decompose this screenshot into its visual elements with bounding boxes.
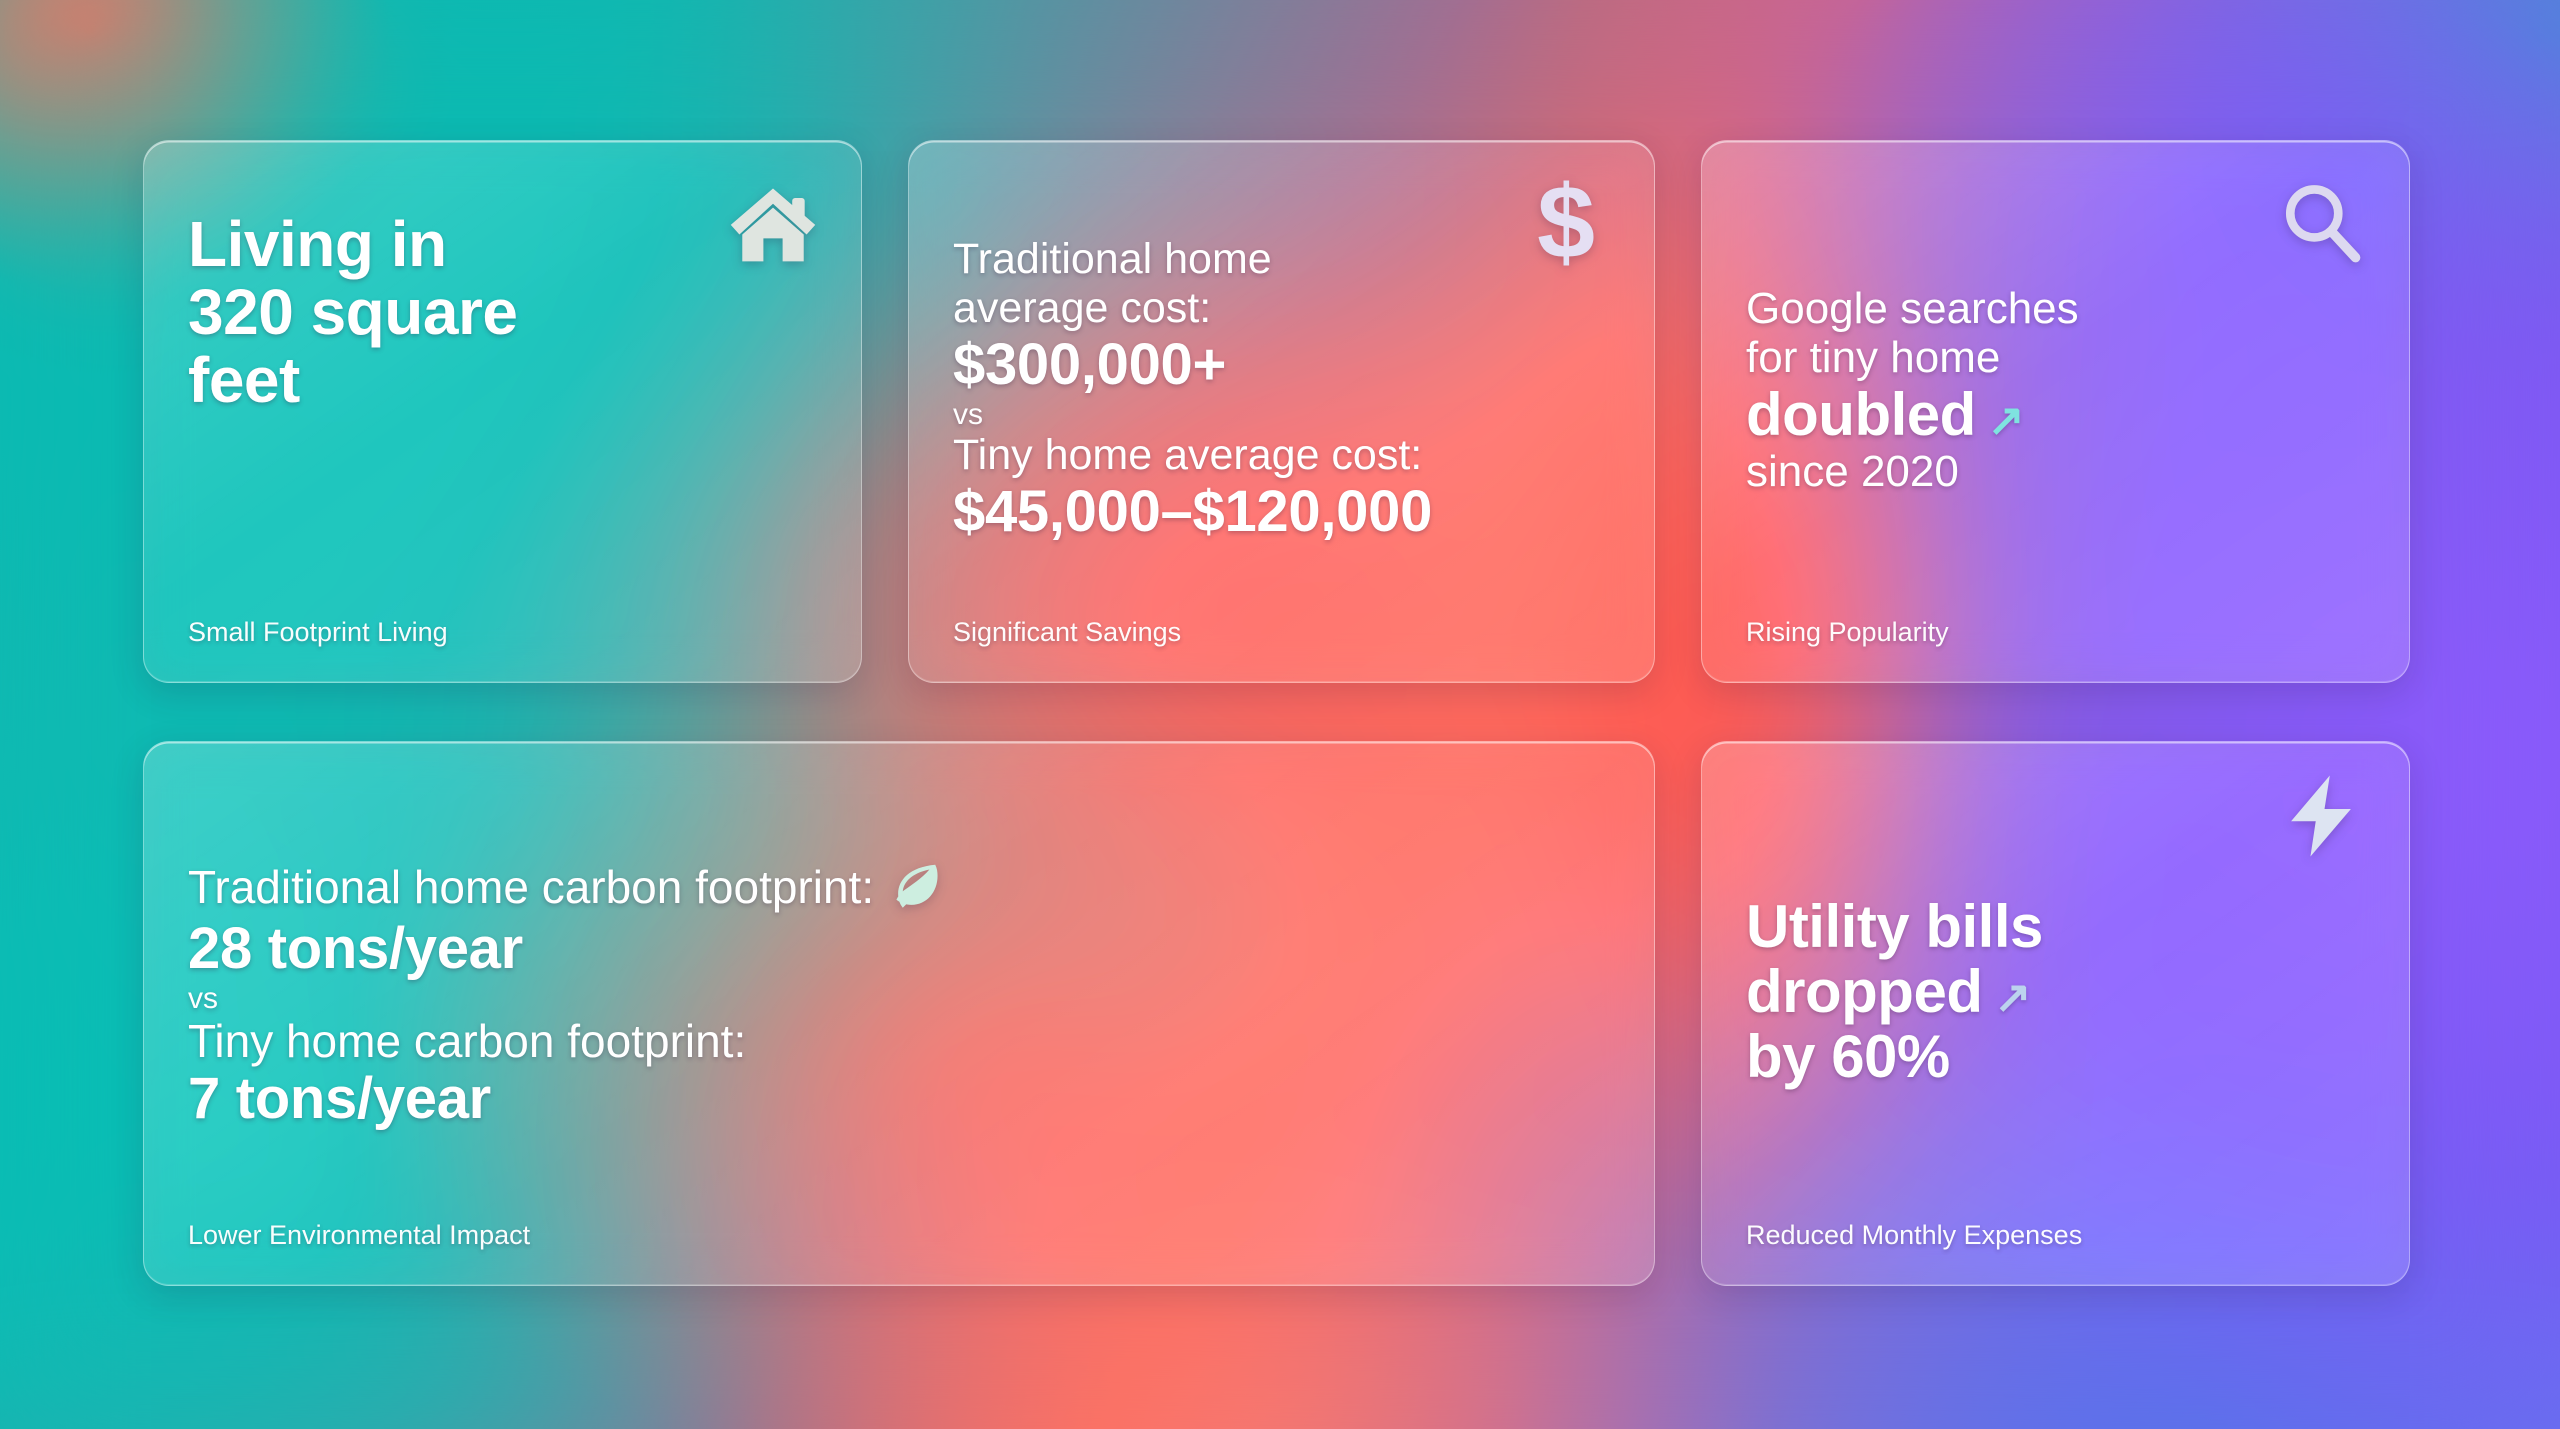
card-vs-label: vs (188, 982, 1610, 1015)
card-content: Traditional home average cost: $300,000+… (953, 187, 1610, 594)
card-stat-value: $300,000+ (953, 333, 1610, 398)
card-stat-value: $45,000–$120,000 (953, 480, 1610, 545)
card-line-with-icon: Traditional home carbon footprint: (188, 859, 1610, 917)
trend-up-arrow-icon: ↗ (1988, 399, 2025, 443)
card-caption: Significant Savings (953, 594, 1610, 648)
card-line: Traditional home carbon footprint: (188, 861, 874, 913)
card-caption: Small Footprint Living (188, 594, 817, 648)
card-stat-value: doubled (1746, 383, 1976, 448)
card-content: Google searches for tiny home doubled ↗ … (1746, 187, 2365, 594)
stat-card-significant-savings[interactable]: $ Traditional home average cost: $300,00… (908, 140, 1655, 683)
card-line: Traditional home (953, 235, 1610, 284)
card-content: Utility bills dropped ↗ by 60% (1746, 788, 2365, 1197)
card-line: Tiny home carbon footprint: (188, 1015, 1610, 1067)
card-content: Living in 320 square feet (188, 187, 817, 594)
card-stat-value: 7 tons/year (188, 1067, 1610, 1132)
card-line: Tiny home average cost: (953, 431, 1610, 480)
card-stat-value: 28 tons/year (188, 917, 1610, 982)
stat-card-reduced-monthly-expenses[interactable]: Utility bills dropped ↗ by 60% Reduced M… (1701, 741, 2410, 1286)
card-stat-row: dropped ↗ (1746, 960, 2365, 1025)
stat-card-lower-environmental-impact[interactable]: Traditional home carbon footprint: 28 to… (143, 741, 1655, 1286)
card-stat-value: Utility bills (1746, 895, 2365, 960)
card-headline: Living in 320 square feet (188, 211, 817, 414)
stat-card-small-footprint-living[interactable]: Living in 320 square feet Small Footprin… (143, 140, 862, 683)
card-stat-value: by 60% (1746, 1025, 2365, 1090)
card-caption: Lower Environmental Impact (188, 1197, 1610, 1251)
stat-card-rising-popularity[interactable]: Google searches for tiny home doubled ↗ … (1701, 140, 2410, 683)
card-line: for tiny home (1746, 333, 2365, 382)
card-line: since 2020 (1746, 447, 2365, 496)
card-line: Google searches (1746, 284, 2365, 333)
stat-card-grid: Living in 320 square feet Small Footprin… (143, 140, 2420, 1286)
card-line: average cost: (953, 284, 1610, 333)
card-stat-value: dropped (1746, 960, 1982, 1025)
card-vs-label: vs (953, 398, 1610, 431)
leaf-icon (890, 859, 948, 917)
card-caption: Reduced Monthly Expenses (1746, 1197, 2365, 1251)
trend-up-arrow-icon: ↗ (1994, 976, 2031, 1020)
card-caption: Rising Popularity (1746, 594, 2365, 648)
card-content: Traditional home carbon footprint: 28 to… (188, 788, 1610, 1197)
card-stat-row: doubled ↗ (1746, 383, 2365, 448)
